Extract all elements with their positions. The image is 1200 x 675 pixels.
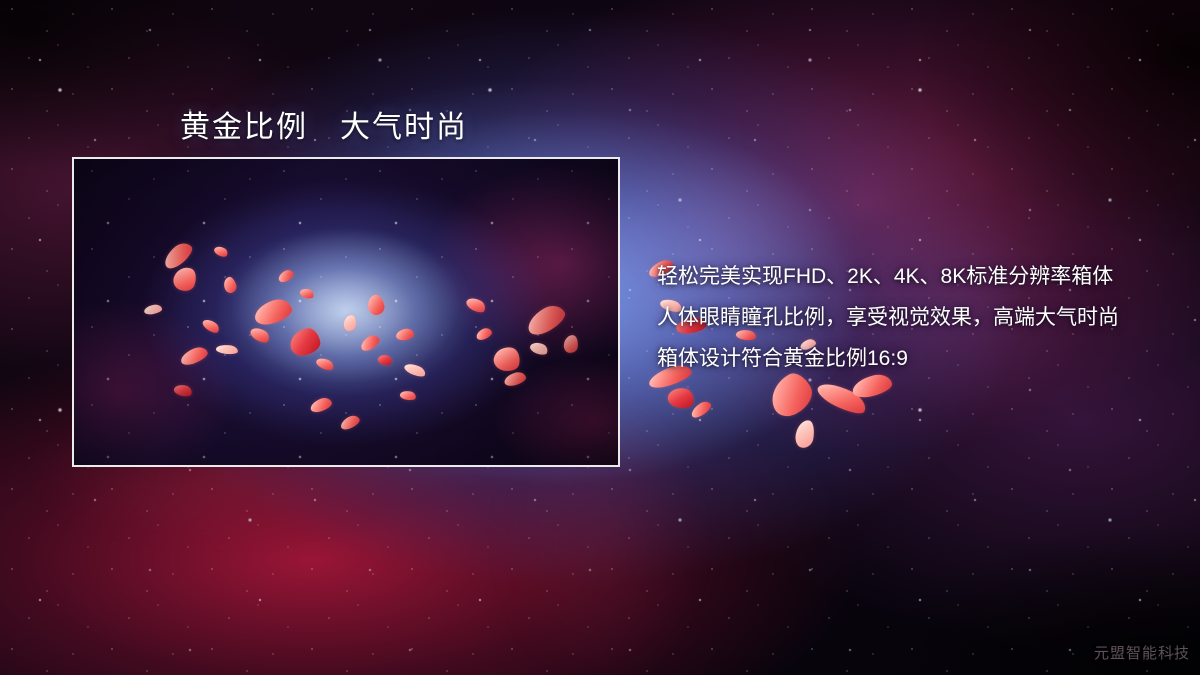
watermark: 元盟智能科技 [1094, 642, 1190, 663]
body-line: 人体眼睛瞳孔比例，享受视觉效果，高端大气时尚 [657, 297, 1177, 338]
body-copy: 轻松完美实现FHD、2K、4K、8K标准分辨率箱体 人体眼睛瞳孔比例，享受视觉效… [657, 256, 1177, 379]
petal [666, 386, 696, 411]
body-line: 箱体设计符合黄金比例16:9 [657, 338, 1177, 379]
framed-photo [72, 157, 620, 467]
page-title: 黄金比例 大气时尚 [180, 102, 468, 146]
photo-vignette [74, 159, 618, 465]
petal [794, 419, 817, 450]
presentation-slide: 黄金比例 大气时尚 轻松完美实现FHD、2K、4K、8K标准分辨率箱体 人体眼睛… [0, 0, 1200, 675]
body-line: 轻松完美实现FHD、2K、4K、8K标准分辨率箱体 [657, 256, 1177, 297]
